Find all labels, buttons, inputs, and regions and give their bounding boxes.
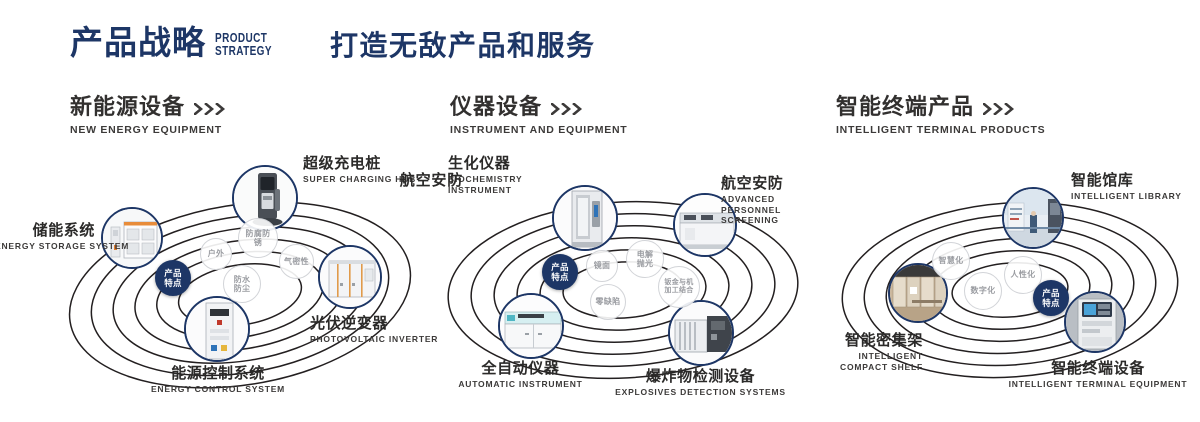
feature-bubble-anticorrosion: 防腐防锈 bbox=[238, 218, 278, 258]
page-title-cn: 产品战略 bbox=[70, 26, 206, 59]
label-advanced-personnel-screening: 航空安防 ADVANCED PERSONNEL SCREENING bbox=[721, 175, 816, 226]
label-intelligent-library: 智能馆库 INTELLIGENT LIBRARY bbox=[1071, 172, 1182, 202]
section-title-cn: 新能源设备 bbox=[70, 95, 185, 119]
self-service-kiosk-photo bbox=[1066, 293, 1124, 351]
battery-cabinet-photo bbox=[103, 209, 161, 267]
product-strategy-infographic: 产品战略 PRODUCT STRATEGY 打造无敌产品和服务 新能源设备 NE… bbox=[0, 0, 1200, 422]
label-aviation-security: 航空安防 bbox=[378, 172, 463, 189]
feature-bubble-intelligent: 智慧化 bbox=[932, 242, 970, 280]
node-photovoltaic-inverter[interactable] bbox=[318, 245, 382, 309]
label-energy-storage-system: 储能系统 ENERGY STORAGE SYSTEM bbox=[0, 222, 95, 252]
node-intelligent-terminal-equipment[interactable] bbox=[1064, 291, 1126, 353]
label-intelligent-compact-shelf: 智能密集架 INTELLIGENT COMPACT SHELF bbox=[733, 332, 923, 372]
biochemistry-analyzer-photo bbox=[554, 187, 616, 249]
feature-bubble-mirror-finish: 镜面 bbox=[586, 250, 618, 282]
section-title-en: INTELLIGENT TERMINAL PRODUCTS bbox=[836, 124, 1045, 136]
core-bubble-product-features: 产品 特点 bbox=[155, 260, 191, 296]
feature-bubble-digital: 数字化 bbox=[964, 272, 1002, 310]
inverter-cabinet-photo bbox=[320, 247, 380, 307]
cluster-intelligent-terminal: 智能馆库 INTELLIGENT LIBRARY 智能密集架 bbox=[818, 160, 1200, 410]
node-intelligent-library[interactable] bbox=[1002, 187, 1064, 249]
core-bubble-product-features: 产品 特点 bbox=[542, 254, 578, 290]
feature-bubble-electrolytic-polishing: 电解抛光 bbox=[626, 240, 664, 278]
section-title-instrument: 仪器设备 INSTRUMENT AND EQUIPMENT bbox=[450, 95, 627, 136]
cluster-new-energy: 储能系统 ENERGY STORAGE SYSTEM 超级充电桩 SUPER C… bbox=[45, 160, 445, 410]
section-title-intelligent-terminal: 智能终端产品 INTELLIGENT TERMINAL PRODUCTS bbox=[836, 95, 1045, 136]
node-explosives-detection-systems[interactable] bbox=[668, 300, 734, 366]
cluster-instrument: 生化仪器 BIOCHEMISTRY INSTRUMENT 航空安防 航空安 bbox=[428, 160, 828, 410]
section-title-new-energy: 新能源设备 NEW ENERGY EQUIPMENT bbox=[70, 95, 228, 136]
chevrons-right-icon bbox=[983, 103, 1017, 115]
section-title-cn: 智能终端产品 bbox=[836, 95, 974, 119]
node-energy-control-system[interactable] bbox=[184, 296, 250, 362]
section-title-cn: 仪器设备 bbox=[450, 95, 542, 119]
automatic-analyzer-photo bbox=[500, 295, 562, 357]
feature-bubble-waterproof-dustproof: 防水防尘 bbox=[223, 265, 261, 303]
page-title: 产品战略 PRODUCT STRATEGY bbox=[70, 26, 286, 59]
feature-bubble-outdoor: 户外 bbox=[200, 238, 232, 270]
node-energy-storage-system[interactable] bbox=[101, 207, 163, 269]
label-explosives-detection-systems: 爆炸物检测设备 EXPLOSIVES DETECTION SYSTEMS bbox=[598, 368, 803, 398]
explosive-detector-photo bbox=[670, 302, 732, 364]
page-title-en: PRODUCT STRATEGY bbox=[215, 32, 272, 57]
control-cabinet-photo bbox=[186, 298, 248, 360]
feature-bubble-zero-defect: 零缺陷 bbox=[590, 284, 626, 320]
page-slogan: 打造无敌产品和服务 bbox=[330, 32, 596, 60]
chevrons-right-icon bbox=[551, 103, 585, 115]
label-photovoltaic-inverter: 光伏逆变器 PHOTOVOLTAIC INVERTER bbox=[310, 315, 438, 345]
feature-bubble-sheetmetal-machining: 钣金与机加工结合 bbox=[658, 266, 700, 308]
section-title-en: NEW ENERGY EQUIPMENT bbox=[70, 124, 228, 136]
label-automatic-instrument: 全自动仪器 AUTOMATIC INSTRUMENT bbox=[413, 360, 628, 390]
label-intelligent-terminal-equipment: 智能终端设备 INTELLIGENT TERMINAL EQUIPMENT bbox=[998, 360, 1198, 390]
chevrons-right-icon bbox=[194, 103, 228, 115]
node-automatic-instrument[interactable] bbox=[498, 293, 564, 359]
feature-bubble-airtightness: 气密性 bbox=[279, 244, 314, 279]
section-title-en: INSTRUMENT AND EQUIPMENT bbox=[450, 124, 627, 136]
label-energy-control-system: 能源控制系统 ENERGY CONTROL SYSTEM bbox=[83, 365, 353, 395]
library-interior-photo bbox=[1004, 189, 1062, 247]
page-title-en-line1: PRODUCT bbox=[215, 32, 272, 45]
page-title-en-line2: STRATEGY bbox=[215, 45, 272, 58]
core-bubble-product-features: 产品 特点 bbox=[1033, 280, 1069, 316]
node-biochemistry-instrument[interactable] bbox=[552, 185, 618, 251]
